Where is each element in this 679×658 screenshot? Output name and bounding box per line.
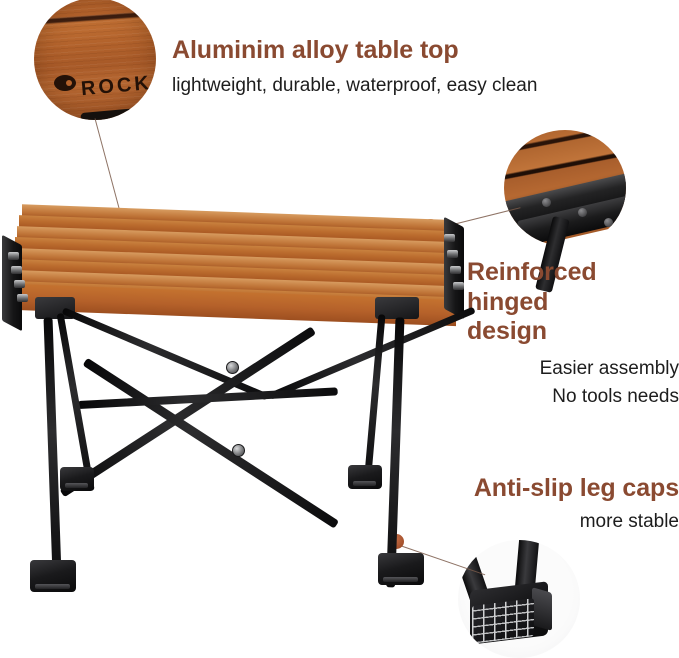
callout-table-top: Aluminim alloy table top lightweight, du… <box>172 36 592 98</box>
foot-rear-right <box>348 465 382 489</box>
callout-table-top-title: Aluminim alloy table top <box>172 36 592 66</box>
callout-hinge-title-line2: design <box>467 317 679 347</box>
rail-clip <box>450 266 461 274</box>
rail-clip <box>447 250 458 258</box>
cross-brace-hub-lower <box>232 444 245 457</box>
table-top-slats <box>4 210 464 310</box>
rail-clip <box>11 266 22 274</box>
mid-support-rail <box>78 387 338 409</box>
callout-hinge-title-line1: Reinforced hinged <box>467 258 679 317</box>
inset-wood-grain-logo: ROCK C <box>34 0 156 120</box>
callout-hinge: Reinforced hinged design Easier assembly… <box>467 258 679 409</box>
leg-cap-side-face <box>532 587 552 631</box>
product-infographic: ROCK C Aluminim alloy table top lightwei… <box>0 0 679 658</box>
rail-clip <box>14 280 25 288</box>
foot-front-right <box>378 553 424 585</box>
rail-clip <box>444 234 455 242</box>
cross-brace-front-a <box>60 326 317 497</box>
cross-brace-hub-upper <box>226 361 239 374</box>
rail-clip <box>453 282 464 290</box>
callout-table-top-subtitle: lightweight, durable, waterproof, easy c… <box>172 73 592 98</box>
leg-front-left <box>44 317 62 587</box>
hinge-rivet-icon <box>604 218 613 227</box>
leg-front-right <box>386 317 404 587</box>
rail-clip <box>8 252 19 260</box>
rail-clip <box>17 294 28 302</box>
leg-rear-right <box>364 314 386 482</box>
callout-hinge-sub-line2: No tools needs <box>467 384 679 409</box>
callout-hinge-subtitle: Easier assembly No tools needs <box>467 356 679 409</box>
folding-table-product <box>0 205 480 595</box>
hinge-rivet-icon <box>542 198 551 207</box>
cross-brace-rear-a <box>62 307 269 400</box>
callout-hinge-sub-line1: Easier assembly <box>467 356 679 381</box>
brand-mark-icon <box>54 75 76 91</box>
foot-rear-left <box>60 467 94 491</box>
leg-cap-tread-pattern <box>472 598 534 644</box>
wood-grain-texture <box>34 0 156 120</box>
hinge-rivet-icon <box>578 208 587 217</box>
foot-front-left <box>30 560 76 592</box>
